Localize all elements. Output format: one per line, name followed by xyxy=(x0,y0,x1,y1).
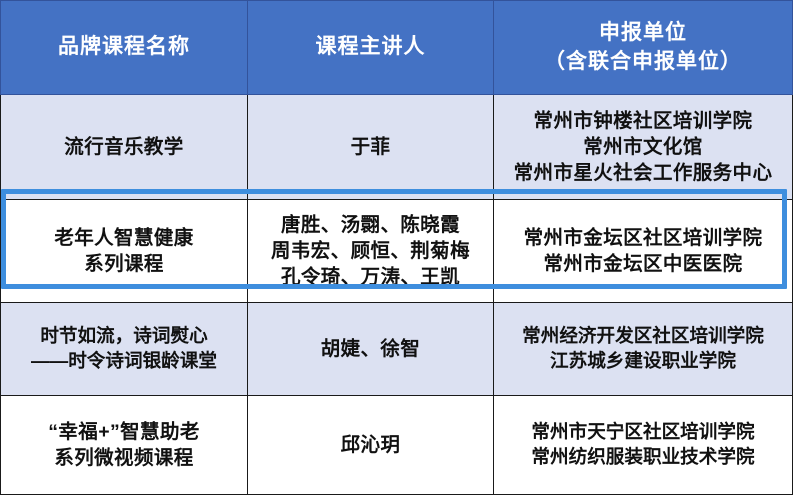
table-row-highlighted[interactable]: 老年人智慧健康 系列课程 唐胜、汤翾、陈晓霞 周韦宏、顾恒、荆菊梅 孔令琦、万涛… xyxy=(1,200,793,303)
text-line: 系列微视频课程 xyxy=(5,445,243,471)
cell-lecturer-lines: 胡婕、徐智 xyxy=(252,336,489,362)
cell-lecturer: 邱沁玥 xyxy=(248,396,494,495)
cell-course-name-lines: “幸福+”智慧助老 系列微视频课程 xyxy=(5,419,243,471)
column-header-course-name-line-1: 品牌课程名称 xyxy=(5,33,243,61)
table-row[interactable]: 时节如流，诗词熨心 ——时令诗词银龄课堂 胡婕、徐智 常州经济开发区社区培训学院… xyxy=(1,303,793,396)
text-line: 唐胜、汤翾、陈晓霞 xyxy=(252,212,489,238)
text-line: 流行音乐教学 xyxy=(5,134,243,160)
cell-applicant-unit-lines: 常州市天宁区社区培训学院 常州纺织服装职业技术学院 xyxy=(498,420,788,470)
cell-course-name: 时节如流，诗词熨心 ——时令诗词银龄课堂 xyxy=(1,303,248,396)
cell-course-name: “幸福+”智慧助老 系列微视频课程 xyxy=(1,396,248,495)
table-body: 流行音乐教学 于菲 常州市钟楼社区培训学院 常州市文化馆 常州市星火社会工作服务… xyxy=(1,95,793,495)
column-header-lecturer: 课程主讲人 xyxy=(248,1,494,95)
text-line: 老年人智慧健康 xyxy=(5,225,243,251)
brand-course-table-wrapper: 品牌课程名称 课程主讲人 申报单位 （含联合申报单位） 流行音乐教学 xyxy=(0,0,792,471)
cell-lecturer-lines: 邱沁玥 xyxy=(252,432,489,458)
cell-course-name-lines: 老年人智慧健康 系列课程 xyxy=(5,225,243,277)
text-line: 常州经济开发区社区培训学院 xyxy=(498,324,788,349)
column-header-applicant-unit-line-2: （含联合申报单位） xyxy=(498,48,788,76)
cell-applicant-unit-lines: 常州市金坛区社区培训学院 常州市金坛区中医医院 xyxy=(498,225,788,277)
text-line: “幸福+”智慧助老 xyxy=(5,419,243,445)
text-line: 胡婕、徐智 xyxy=(252,336,489,362)
cell-applicant-unit: 常州市钟楼社区培训学院 常州市文化馆 常州市星火社会工作服务中心 xyxy=(494,95,793,200)
text-line: 邱沁玥 xyxy=(252,432,489,458)
cell-applicant-unit: 常州市天宁区社区培训学院 常州纺织服装职业技术学院 xyxy=(494,396,793,495)
text-line: 常州纺织服装职业技术学院 xyxy=(498,445,788,470)
text-line: 江苏城乡建设职业学院 xyxy=(498,349,788,374)
cell-course-name: 老年人智慧健康 系列课程 xyxy=(1,200,248,303)
table-header: 品牌课程名称 课程主讲人 申报单位 （含联合申报单位） xyxy=(1,1,793,95)
text-line: 常州市金坛区社区培训学院 xyxy=(498,225,788,251)
text-line: 时节如流，诗词熨心 xyxy=(5,324,243,349)
cell-lecturer: 唐胜、汤翾、陈晓霞 周韦宏、顾恒、荆菊梅 孔令琦、万涛、王凯 xyxy=(248,200,494,303)
text-line: 常州市金坛区中医医院 xyxy=(498,251,788,277)
cell-lecturer: 胡婕、徐智 xyxy=(248,303,494,396)
cell-applicant-unit-lines: 常州市钟楼社区培训学院 常州市文化馆 常州市星火社会工作服务中心 xyxy=(498,108,788,186)
table-row[interactable]: “幸福+”智慧助老 系列微视频课程 邱沁玥 常州市天宁区社区培训学院 常州纺织服… xyxy=(1,396,793,495)
screenshot-root: 品牌课程名称 课程主讲人 申报单位 （含联合申报单位） 流行音乐教学 xyxy=(0,0,800,472)
cell-applicant-unit: 常州经济开发区社区培训学院 江苏城乡建设职业学院 xyxy=(494,303,793,396)
text-line: 周韦宏、顾恒、荆菊梅 xyxy=(252,238,489,264)
table-row[interactable]: 流行音乐教学 于菲 常州市钟楼社区培训学院 常州市文化馆 常州市星火社会工作服务… xyxy=(1,95,793,200)
cell-course-name: 流行音乐教学 xyxy=(1,95,248,200)
cell-lecturer-lines: 于菲 xyxy=(252,134,489,160)
cell-lecturer: 于菲 xyxy=(248,95,494,200)
text-line: 系列课程 xyxy=(5,251,243,277)
cell-applicant-unit-lines: 常州经济开发区社区培训学院 江苏城乡建设职业学院 xyxy=(498,324,788,374)
text-line: 于菲 xyxy=(252,134,489,160)
column-header-lecturer-line-1: 课程主讲人 xyxy=(252,33,489,61)
cell-applicant-unit: 常州市金坛区社区培训学院 常州市金坛区中医医院 xyxy=(494,200,793,303)
cell-course-name-lines: 流行音乐教学 xyxy=(5,134,243,160)
column-header-applicant-unit: 申报单位 （含联合申报单位） xyxy=(494,1,793,95)
table-header-row: 品牌课程名称 课程主讲人 申报单位 （含联合申报单位） xyxy=(1,1,793,95)
column-header-course-name: 品牌课程名称 xyxy=(1,1,248,95)
text-line: 常州市文化馆 xyxy=(498,134,788,160)
cell-course-name-lines: 时节如流，诗词熨心 ——时令诗词银龄课堂 xyxy=(5,324,243,374)
text-line: 常州市天宁区社区培训学院 xyxy=(498,420,788,445)
text-line: ——时令诗词银龄课堂 xyxy=(5,349,243,374)
text-line: 常州市星火社会工作服务中心 xyxy=(498,160,788,186)
brand-course-table: 品牌课程名称 课程主讲人 申报单位 （含联合申报单位） 流行音乐教学 xyxy=(0,0,793,495)
text-line: 常州市钟楼社区培训学院 xyxy=(498,108,788,134)
column-header-applicant-unit-line-1: 申报单位 xyxy=(498,19,788,47)
cell-lecturer-lines: 唐胜、汤翾、陈晓霞 周韦宏、顾恒、荆菊梅 孔令琦、万涛、王凯 xyxy=(252,212,489,290)
text-line: 孔令琦、万涛、王凯 xyxy=(252,264,489,290)
